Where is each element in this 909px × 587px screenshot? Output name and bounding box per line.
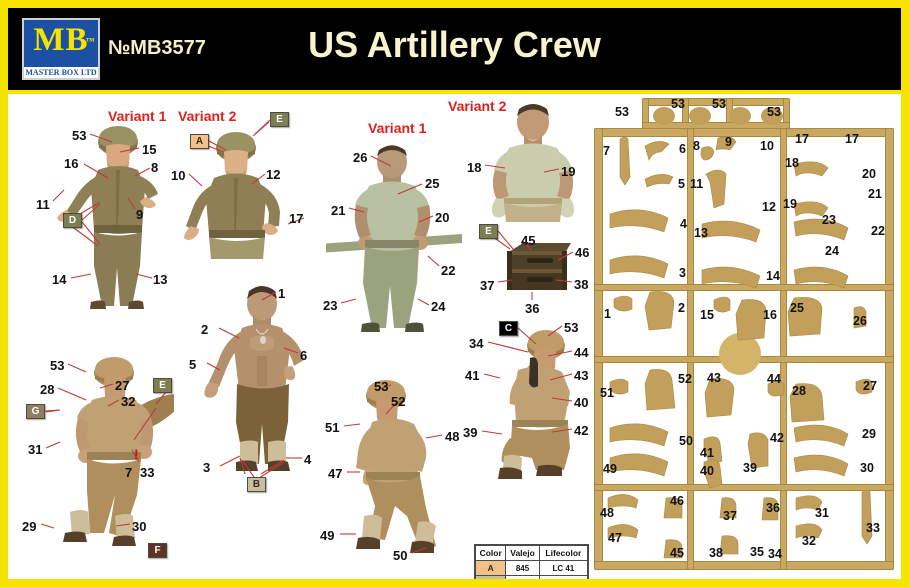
callout-number: 20 [435, 210, 449, 225]
callout-number: 18 [467, 160, 481, 175]
callout-number: 27 [115, 378, 129, 393]
page-title: US Artillery Crew [8, 24, 901, 66]
sprue-part-number: 6 [679, 142, 686, 156]
sprue-part-number: 17 [795, 132, 809, 146]
figure-shirtless [204, 284, 320, 474]
callout-number: 16 [64, 156, 78, 171]
logo-subtitle: MASTER BOX LTD [24, 67, 98, 78]
sprue-part-number: 2 [678, 301, 685, 315]
instruction-sheet: MB ™ MASTER BOX LTD №MB3577 US Artillery… [0, 0, 909, 587]
sprue-part-number: 37 [723, 509, 737, 523]
color-table-row: B847UA 019 [476, 576, 588, 579]
color-table-header-row: Color Valejo Lifecolor [476, 546, 588, 561]
sprue-part-number: 17 [845, 132, 859, 146]
variant-label: Variant 1 [368, 120, 426, 136]
callout-number: 31 [28, 442, 42, 457]
callout-number: 12 [266, 167, 280, 182]
sprue-part-number: 31 [815, 506, 829, 520]
callout-number: 13 [153, 272, 167, 287]
color-badge-e: E [153, 378, 172, 393]
sprue-part-number: 36 [766, 501, 780, 515]
sprue-part-number: 23 [822, 213, 836, 227]
sprue-part-number: 12 [762, 200, 776, 214]
callout-number: 48 [445, 429, 459, 444]
color-badge-b: B [247, 477, 266, 492]
sprue-part-number: 28 [792, 384, 806, 398]
callout-number: 44 [574, 345, 588, 360]
col-header-valejo: Valejo [506, 546, 539, 561]
sprue-part-number: 50 [679, 434, 693, 448]
sprue-part-number: 13 [694, 226, 708, 240]
callout-number: 28 [40, 382, 54, 397]
callout-number: 9 [136, 207, 143, 222]
callout-number: 26 [353, 150, 367, 165]
callout-number: 51 [325, 420, 339, 435]
col-header-lifecolor: Lifecolor [539, 546, 587, 561]
callout-number: 43 [574, 368, 588, 383]
sprue-part-number: 26 [853, 314, 867, 328]
sprue-part-number: 15 [700, 308, 714, 322]
sprue-part-number: 14 [766, 269, 780, 283]
callout-number: 15 [142, 142, 156, 157]
color-table-grid: Color Valejo Lifecolor A845LC 41B847UA 0… [475, 545, 588, 579]
color-badge-a: A [190, 134, 209, 149]
valejo-code: 847 [506, 576, 539, 579]
callout-number: 36 [525, 301, 539, 316]
sprue-part-number: 11 [690, 177, 703, 191]
callout-number: 4 [304, 452, 311, 467]
sprue-part-number: 21 [868, 187, 882, 201]
callout-number: 10 [171, 168, 185, 183]
callout-number: 53 [72, 128, 86, 143]
callout-number: 21 [331, 203, 345, 218]
sprue-part-number: 43 [707, 371, 721, 385]
callout-number: 39 [463, 425, 477, 440]
sprue-part-number: 19 [783, 197, 797, 211]
sprue-part-number: 41 [700, 446, 714, 460]
sprue-part-number: 47 [608, 531, 622, 545]
figure-kneeling-radio [486, 324, 586, 479]
sprue-part-number: 3 [679, 266, 686, 280]
callout-number: 37 [480, 278, 494, 293]
color-badge-f: F [148, 543, 167, 558]
callout-number: 1 [278, 286, 285, 301]
col-header-color: Color [476, 546, 506, 561]
sprue-part-number: 51 [600, 386, 614, 400]
sprue-part-number: 49 [603, 462, 617, 476]
sprue-part-number: 52 [678, 372, 692, 386]
sprue-part-number: 39 [743, 461, 757, 475]
sprue-part-number: 16 [763, 308, 777, 322]
sprue-part-number: 53 [767, 105, 781, 119]
color-table-body: A845LC 41B847UA 019C862LC 02D873UA 004E8… [476, 561, 588, 580]
callout-number: 40 [574, 395, 588, 410]
sprue-part-number: 44 [767, 372, 781, 386]
lifecolor-code: LC 41 [539, 561, 587, 576]
callout-number: 45 [521, 233, 535, 248]
callout-number: 30 [132, 519, 146, 534]
callout-number: 52 [391, 394, 405, 409]
sprue-part-number: 45 [670, 546, 684, 560]
sprue-part-number: 20 [862, 167, 876, 181]
color-table-row: A845LC 41 [476, 561, 588, 576]
color-badge-g: G [26, 404, 45, 419]
callout-number: 34 [469, 336, 483, 351]
callout-number: 53 [50, 358, 64, 373]
callout-number: 53 [374, 379, 388, 394]
sprue-part-number: 27 [863, 379, 877, 393]
callout-number: 14 [52, 272, 66, 287]
diagram-panel: 5353535376891017175111820211219413232224… [8, 94, 901, 579]
sprue-part-number: 40 [700, 464, 714, 478]
sprue-part-number: 8 [693, 139, 700, 153]
sprue-part-number: 24 [825, 244, 839, 258]
callout-number: 8 [151, 160, 158, 175]
callout-number: 6 [300, 348, 307, 363]
callout-number: 29 [22, 519, 36, 534]
callout-number: 25 [425, 176, 439, 191]
sprue-part-number: 1 [604, 307, 611, 321]
sprue-part-number: 18 [785, 156, 799, 170]
color-badge-e: E [270, 112, 289, 127]
sprue-part-number: 4 [680, 217, 687, 231]
callout-number: 11 [36, 197, 50, 212]
callout-number: 50 [393, 548, 407, 563]
sprue-part-number: 53 [615, 105, 629, 119]
sprue-part-number: 35 [750, 545, 764, 559]
callout-number: 3 [203, 460, 210, 475]
sprue-part-number: 25 [790, 301, 804, 315]
sprue-part-number: 7 [603, 144, 610, 158]
callout-number: 53 [564, 320, 578, 335]
sprue-part-number: 9 [725, 135, 732, 149]
callout-number: 33 [140, 465, 154, 480]
sprue-part-number: 48 [600, 506, 614, 520]
color-swatch-b: B [476, 576, 506, 579]
warning-exclamation: ! [134, 446, 139, 462]
sprue-part-number: 10 [760, 139, 774, 153]
sprue-part-number: 5 [678, 177, 685, 191]
callout-number: 41 [465, 368, 479, 383]
sprue-part-number: 22 [871, 224, 885, 238]
sprue-parts-layer [590, 94, 901, 579]
sprue-frame: 5353535376891017175111820211219413232224… [590, 94, 901, 579]
sprue-part-number: 38 [709, 546, 723, 560]
callout-number: 7 [125, 465, 132, 480]
callout-number: 38 [574, 277, 588, 292]
ammunition-box [505, 238, 575, 294]
variant-label: Variant 2 [448, 98, 506, 114]
variant-label: Variant 2 [178, 108, 236, 124]
callout-number: 24 [431, 299, 445, 314]
color-badge-c: C [499, 321, 518, 336]
figure-bust-variant2 [178, 130, 296, 260]
callout-number: 23 [323, 298, 337, 313]
color-badge-e: E [479, 224, 498, 239]
callout-number: 17 [289, 211, 303, 226]
variant-label: Variant 1 [108, 108, 166, 124]
callout-number: 47 [328, 466, 342, 481]
callout-number: 22 [441, 263, 455, 278]
callout-number: 2 [201, 322, 208, 337]
callout-number: 19 [561, 164, 575, 179]
sprue-part-number: 53 [671, 97, 685, 111]
sprue-part-number: 53 [712, 97, 726, 111]
sprue-part-number: 34 [768, 547, 782, 561]
color-swatch-a: A [476, 561, 506, 576]
header-bar: MB ™ MASTER BOX LTD №MB3577 US Artillery… [8, 8, 901, 90]
sprue-part-number: 42 [770, 431, 784, 445]
sprue-part-number: 29 [862, 427, 876, 441]
color-badge-d: D [63, 213, 82, 228]
callout-number: 46 [575, 245, 589, 260]
sprue-part-number: 32 [802, 534, 816, 548]
callout-number: 32 [121, 394, 135, 409]
sprue-part-number: 33 [866, 521, 880, 535]
callout-number: 42 [574, 423, 588, 438]
sprue-part-number: 46 [670, 494, 684, 508]
lifecolor-code: UA 019 [539, 576, 587, 579]
sprue-part-number: 30 [860, 461, 874, 475]
callout-number: 49 [320, 528, 334, 543]
callout-number: 5 [189, 357, 196, 372]
color-reference-table: Color Valejo Lifecolor A845LC 41B847UA 0… [474, 544, 589, 579]
figure-bust-gloves-variant2 [478, 102, 588, 224]
valejo-code: 845 [506, 561, 539, 576]
